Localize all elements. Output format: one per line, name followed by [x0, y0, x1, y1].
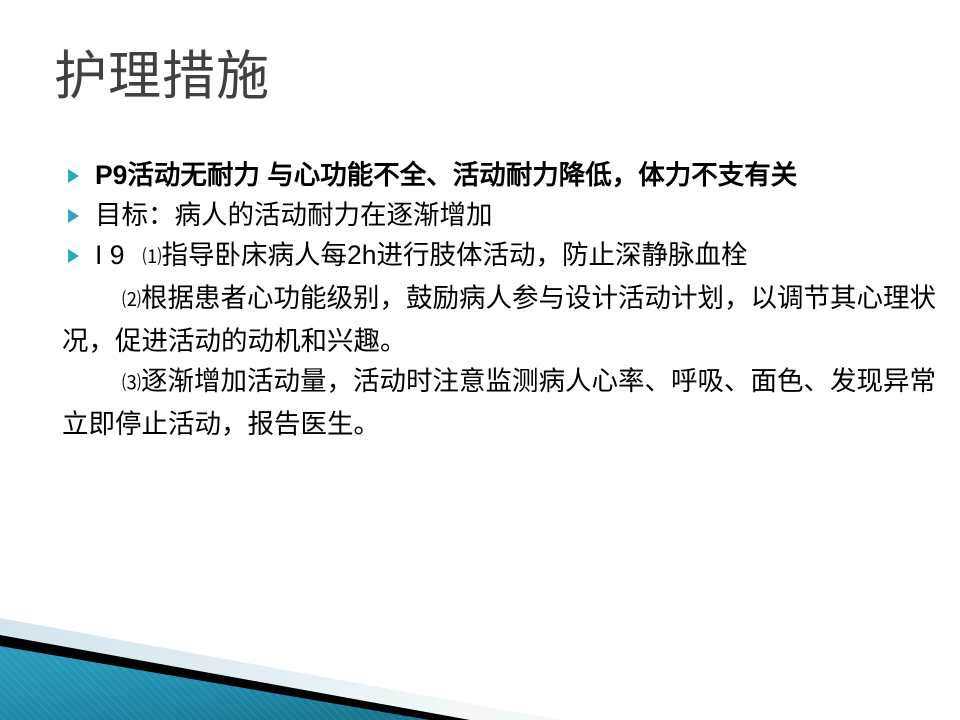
decorative-corner-graphic	[0, 580, 960, 720]
page-title: 护理措施	[54, 42, 270, 112]
bullet-item-3: I 9⑴指导卧床病人每2h进行肢体活动，防止深静脉血栓	[62, 235, 942, 278]
slide-body: P9活动无耐力 与心功能不全、活动耐力降低，体力不支有关 目标：病人的活动耐力在…	[62, 155, 942, 444]
bullet-item-3-content: I 9⑴指导卧床病人每2h进行肢体活动，防止深静脉血栓	[95, 235, 942, 278]
bullet-item-1: P9活动无耐力 与心功能不全、活动耐力降低，体力不支有关	[62, 155, 942, 195]
paragraph-item-3: ⑶逐渐增加活动量，活动时注意监测病人心率、呼吸、面色、发现异常立即停止活动，报告…	[62, 361, 942, 444]
decor-pale-band	[0, 618, 560, 720]
paragraph-item-2-text: 根据患者心功能级别，鼓励病人参与设计活动计划，以调节其心理状况，促进活动的动机和…	[62, 283, 936, 356]
sub-number-2: ⑵	[122, 290, 141, 311]
paragraph-item-2: ⑵根据患者心功能级别，鼓励病人参与设计活动计划，以调节其心理状况，促进活动的动机…	[62, 278, 942, 361]
triangle-right-icon	[68, 169, 79, 183]
intervention-label: I 9	[95, 240, 124, 270]
sub-number-1: ⑴	[142, 247, 161, 268]
bullet-item-2: 目标：病人的活动耐力在逐渐增加	[62, 195, 942, 235]
presentation-slide: 护理措施 P9活动无耐力 与心功能不全、活动耐力降低，体力不支有关 目标：病人的…	[0, 0, 960, 720]
bullet-item-1-label: P9活动无耐力 与心功能不全、活动耐力降低，体力不支有关	[95, 155, 942, 195]
sub-number-3: ⑶	[122, 373, 141, 394]
triangle-right-icon	[68, 249, 79, 263]
decor-teal-wedge	[0, 646, 430, 720]
sub-text-1: 指导卧床病人每2h进行肢体活动，防止深静脉血栓	[161, 240, 747, 270]
bullet-item-2-label: 目标：病人的活动耐力在逐渐增加	[95, 195, 942, 235]
decor-black-band	[0, 635, 470, 720]
triangle-right-icon	[68, 209, 79, 223]
paragraph-item-3-text: 逐渐增加活动量，活动时注意监测病人心率、呼吸、面色、发现异常立即停止活动，报告医…	[62, 366, 936, 439]
